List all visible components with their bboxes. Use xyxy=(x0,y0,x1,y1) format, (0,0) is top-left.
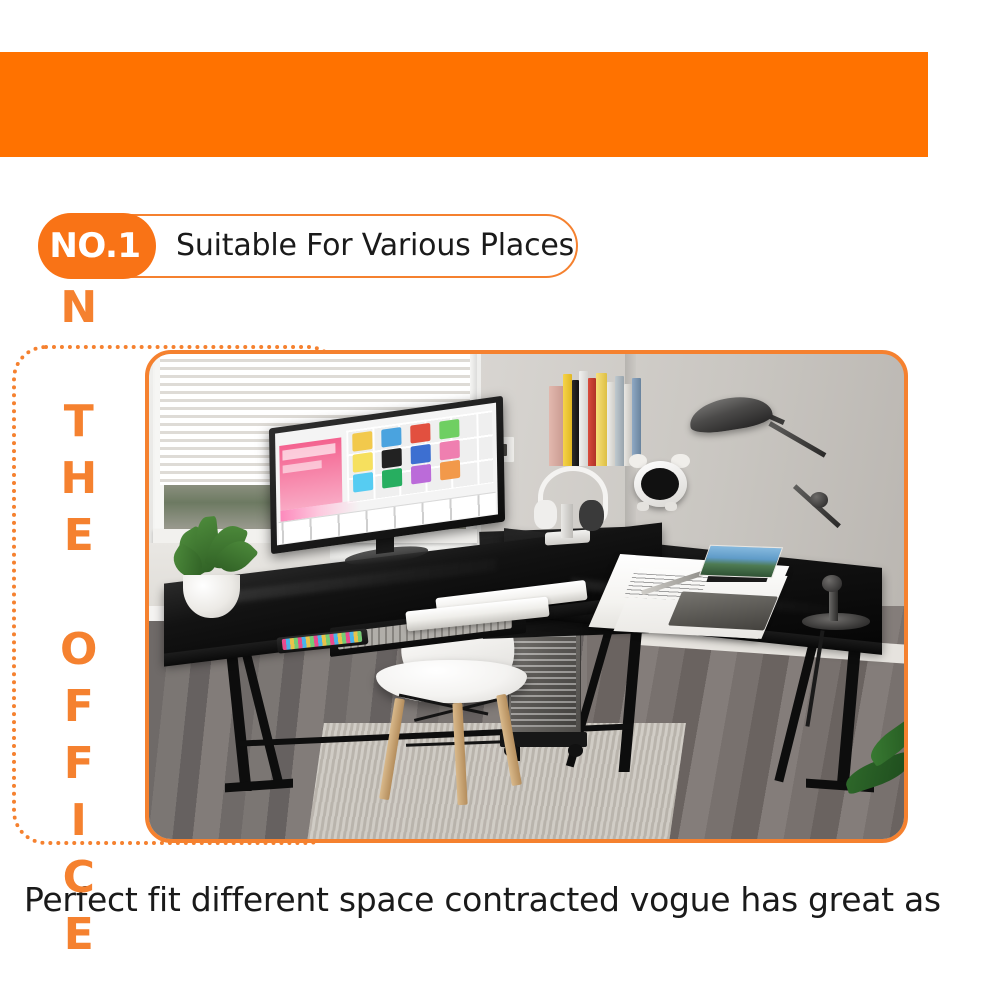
badge-number-label: NO.1 xyxy=(49,229,144,263)
top-orange-banner xyxy=(0,52,928,157)
app-tile xyxy=(381,448,401,469)
book-3 xyxy=(572,380,579,465)
book-2 xyxy=(563,374,572,465)
headphone-earcup-right xyxy=(579,500,603,532)
book-5 xyxy=(588,378,596,465)
product-photo-scene xyxy=(149,354,904,839)
app-tile xyxy=(352,472,372,493)
book-7 xyxy=(607,382,615,465)
app-tile xyxy=(440,460,460,481)
desk-photo-frame-image xyxy=(699,544,783,578)
cart-wheel-right xyxy=(568,744,583,757)
app-tile xyxy=(352,431,372,452)
headphone-earcup-left xyxy=(534,500,557,529)
book-stack xyxy=(549,369,647,466)
bottom-caption: Perfect fit different space contracted v… xyxy=(24,880,984,920)
app-tile xyxy=(410,444,430,465)
app-tile xyxy=(352,452,372,473)
book-4 xyxy=(579,371,589,465)
lamp-joint-upper xyxy=(810,492,828,508)
badge-number-pill: NO.1 xyxy=(38,213,156,279)
app-tile xyxy=(411,464,431,485)
lamp-joint-lower xyxy=(822,575,842,591)
alarm-clock-foot-left xyxy=(637,502,649,511)
book-1 xyxy=(549,386,564,466)
graphics-tablet xyxy=(668,592,778,631)
plant-leaves xyxy=(173,514,260,584)
book-9 xyxy=(624,384,632,465)
badge-title-text: Suitable For Various Places xyxy=(176,213,574,279)
book-10 xyxy=(632,378,642,465)
app-tile xyxy=(439,419,459,440)
screen-app-tile-grid xyxy=(346,410,493,504)
app-tile xyxy=(410,423,430,444)
app-tile xyxy=(440,439,460,460)
alarm-clock-foot-right xyxy=(665,502,677,511)
product-photo xyxy=(145,350,908,843)
app-tile xyxy=(381,427,401,448)
app-tile xyxy=(382,468,402,489)
book-8 xyxy=(615,376,624,465)
book-6 xyxy=(596,373,607,465)
